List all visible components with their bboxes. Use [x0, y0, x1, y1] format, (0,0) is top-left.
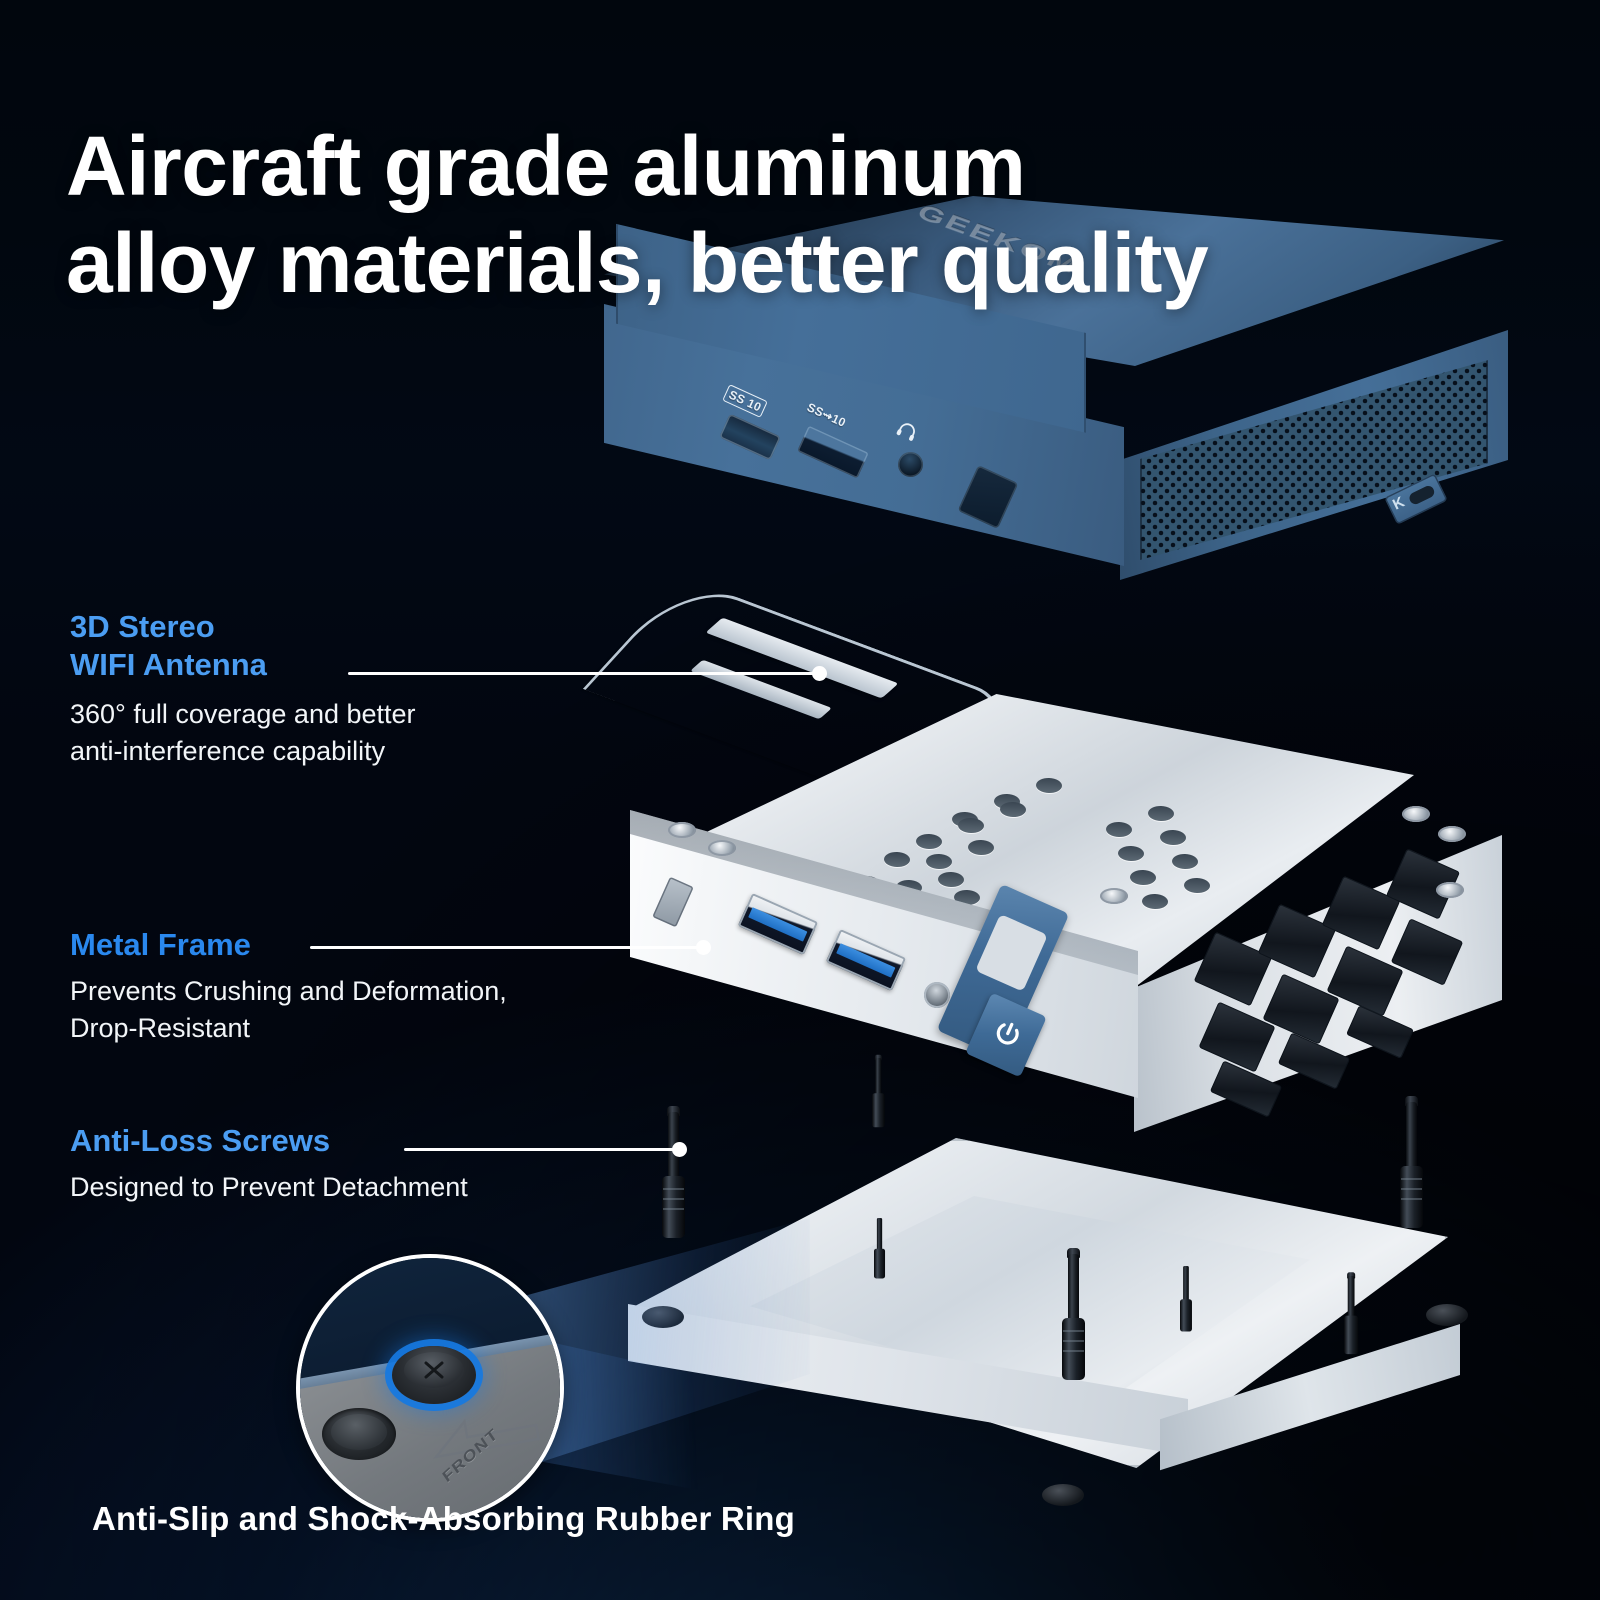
- feature-title-antenna-line1: 3D Stereo: [70, 609, 215, 644]
- chassis-mesh-vent: [1140, 356, 1488, 562]
- kensington-icon: K: [1391, 494, 1407, 512]
- headline-line-1: Aircraft grade aluminum: [66, 119, 1025, 213]
- feature-desc-frame-line1: Prevents Crushing and Deformation,: [70, 976, 507, 1006]
- inset-rubber-ring-highlighted: [392, 1346, 476, 1404]
- leader-dot-antenna: [812, 666, 827, 681]
- feature-title-screws: Anti-Loss Screws: [70, 1122, 468, 1160]
- metal-frame-assembly: [612, 630, 1512, 1150]
- feature-anti-loss-screws: Anti-Loss Screws Designed to Prevent Det…: [70, 1122, 468, 1206]
- headline-line-2: alloy materials, better quality: [66, 215, 1396, 312]
- feature-desc-screws: Designed to Prevent Detachment: [70, 1169, 468, 1206]
- feature-title-frame: Metal Frame: [70, 926, 507, 964]
- lock-slot-opening: [1408, 484, 1437, 506]
- feature-desc-antenna-line1: 360° full coverage and better: [70, 699, 416, 729]
- rubber-foot: [1042, 1484, 1084, 1506]
- feature-title-antenna-line2: WIFI Antenna: [70, 647, 267, 682]
- feature-wifi-antenna: 3D Stereo WIFI Antenna 360° full coverag…: [70, 608, 416, 770]
- infographic-canvas: GEEKOM K SS 10 SS⇝10: [0, 0, 1600, 1600]
- feature-metal-frame: Metal Frame Prevents Crushing and Deform…: [70, 926, 507, 1047]
- feature-desc-frame-line2: Drop-Resistant: [70, 1013, 250, 1043]
- feature-desc-antenna: 360° full coverage and better anti-inter…: [70, 696, 416, 771]
- feature-desc-antenna-line2: anti-interference capability: [70, 736, 385, 766]
- rubber-ring-closeup: FRONT: [296, 1254, 564, 1522]
- rubber-foot: [1426, 1304, 1468, 1326]
- frame-corner-screws: [612, 630, 1512, 1150]
- bottom-caption: Anti-Slip and Shock-Absorbing Rubber Rin…: [92, 1500, 795, 1538]
- feature-desc-frame: Prevents Crushing and Deformation, Drop-…: [70, 973, 507, 1048]
- leader-line-antenna: [348, 672, 818, 675]
- leader-dot-frame: [696, 940, 711, 955]
- phillips-screw-icon: [422, 1359, 446, 1381]
- feature-title-antenna: 3D Stereo WIFI Antenna: [70, 608, 416, 684]
- leader-dot-screws: [672, 1142, 687, 1157]
- page-title: Aircraft grade aluminum alloy materials,…: [66, 118, 1396, 313]
- inset-rubber-foot-secondary: [322, 1408, 396, 1460]
